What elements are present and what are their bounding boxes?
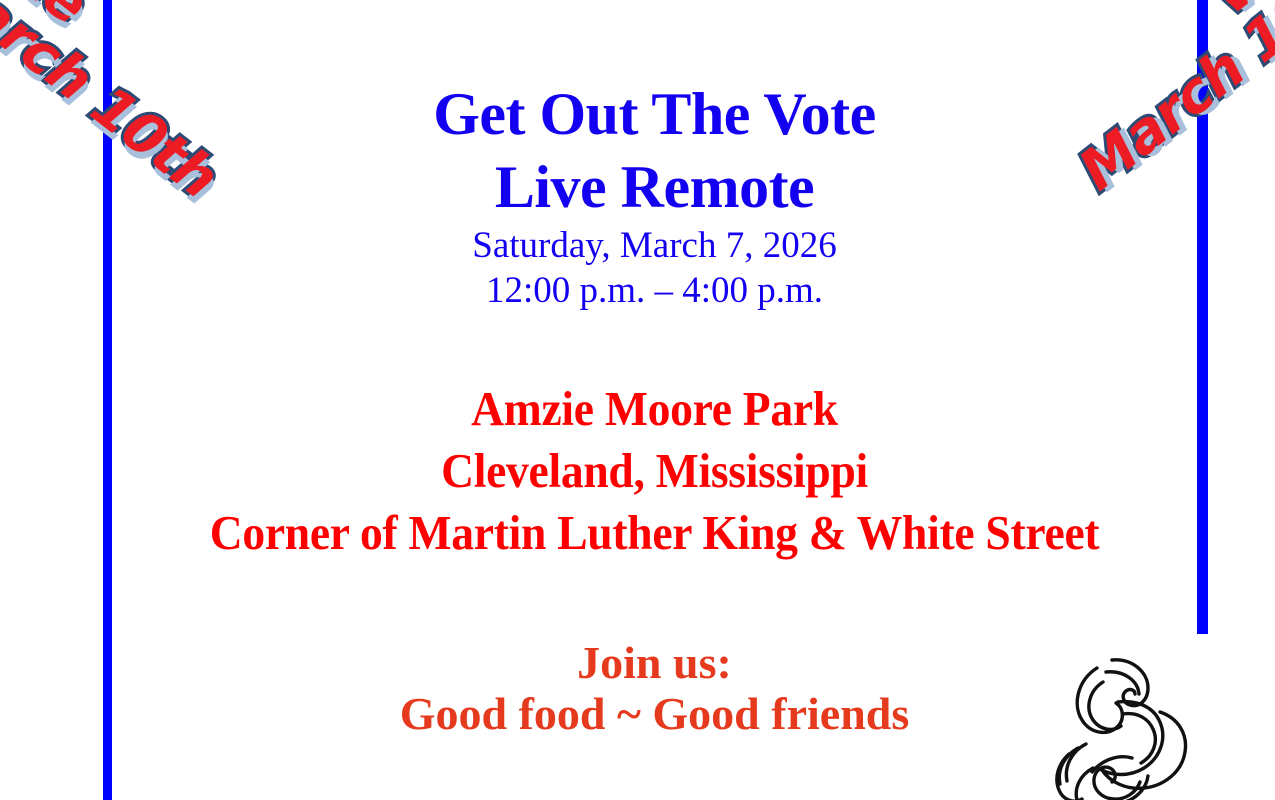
poster-canvas: Vote March 10th Vote March 10th Get Out … [0,0,1275,800]
joinus-block: Join us: Good food ~ Good friends [112,638,1197,739]
venue-city: Cleveland, Mississippi [150,440,1159,502]
swirl-flourish-ornament [1040,648,1215,800]
joinus-heading: Join us: [112,638,1197,689]
headline-line-2: Live Remote [112,151,1197,224]
poster-content: Get Out The Vote Live Remote Saturday, M… [112,0,1197,800]
headline-block: Get Out The Vote Live Remote [112,78,1197,224]
headline-line-1: Get Out The Vote [112,78,1197,151]
venue-cross-street: Corner of Martin Luther King & White Str… [150,502,1159,564]
venue-block: Amzie Moore Park Cleveland, Mississippi … [150,378,1159,565]
venue-name: Amzie Moore Park [150,378,1159,440]
event-time: 12:00 p.m. – 4:00 p.m. [112,268,1197,313]
datetime-block: Saturday, March 7, 2026 12:00 p.m. – 4:0… [112,223,1197,313]
event-date: Saturday, March 7, 2026 [112,223,1197,268]
joinus-detail: Good food ~ Good friends [112,689,1197,740]
